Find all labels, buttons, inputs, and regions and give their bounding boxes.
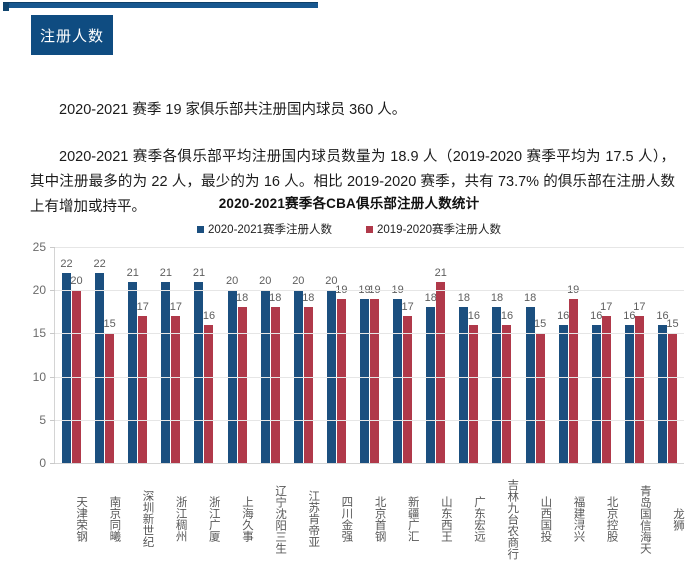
- bar-2019-2020[interactable]: 16: [469, 325, 478, 463]
- bar-2019-2020[interactable]: 18: [271, 307, 280, 463]
- bar-group: 1617: [585, 247, 618, 463]
- x-axis-category-label: 辽宁沈阳三生: [253, 469, 286, 569]
- x-axis-category-label: 江苏肯帝亚: [286, 469, 319, 569]
- bar-2019-2020[interactable]: 19: [337, 299, 346, 463]
- bar-value-label: 18: [491, 292, 503, 304]
- bar-value-label: 22: [60, 258, 72, 270]
- chart-x-axis: 天津荣钢南京同曦深圳新世纪浙江稠州浙江广厦上海久事辽宁沈阳三生江苏肯帝亚四川金强…: [54, 469, 684, 569]
- y-axis-tick-label: 5: [39, 413, 46, 427]
- x-axis-category-label: 上海久事: [220, 469, 253, 569]
- bar-value-label: 16: [203, 310, 215, 322]
- bar-group: 2220: [55, 247, 88, 463]
- chart-plot-wrapper: 0510152025 22202215211721172116201820182…: [0, 247, 698, 479]
- x-axis-category-label: 吉林九台农商行: [485, 469, 518, 569]
- x-axis-category-label: 青岛国信海天: [618, 469, 651, 569]
- bar-2020-2021[interactable]: 16: [625, 325, 634, 463]
- bar-2019-2020[interactable]: 21: [436, 282, 445, 463]
- page-root: 注册人数 2020-2021 赛季 19 家俱乐部共注册国内球员 360 人。 …: [0, 0, 698, 566]
- bar-value-label: 18: [458, 292, 470, 304]
- chart-gridline: [55, 290, 684, 291]
- bar-2019-2020[interactable]: 17: [403, 316, 412, 463]
- bar-group: 2117: [121, 247, 154, 463]
- bar-2019-2020[interactable]: 15: [668, 333, 677, 463]
- chart-gridline: [55, 333, 684, 334]
- bar-group: 1816: [452, 247, 485, 463]
- section-tag-registration-count: 注册人数: [31, 15, 113, 55]
- bar-2020-2021[interactable]: 18: [526, 307, 535, 463]
- bar-2019-2020[interactable]: 19: [569, 299, 578, 463]
- bar-group: 2215: [88, 247, 121, 463]
- bar-value-label: 21: [127, 267, 139, 279]
- chart-gridline: [55, 377, 684, 378]
- x-axis-category-label: 南京同曦: [87, 469, 120, 569]
- bar-value-label: 17: [137, 301, 149, 313]
- bar-2019-2020[interactable]: 18: [304, 307, 313, 463]
- bar-2020-2021[interactable]: 18: [492, 307, 501, 463]
- bar-value-label: 20: [292, 275, 304, 287]
- bar-group: 1917: [386, 247, 419, 463]
- chart-gridline: [55, 247, 684, 248]
- bar-2019-2020[interactable]: 19: [370, 299, 379, 463]
- bar-2019-2020[interactable]: 15: [105, 333, 114, 463]
- bar-value-label: 18: [425, 292, 437, 304]
- bar-value-label: 15: [104, 318, 116, 330]
- chart-y-axis: 0510152025: [0, 247, 54, 463]
- bar-2020-2021[interactable]: 22: [62, 273, 71, 463]
- x-axis-category-label: 广东宏远: [452, 469, 485, 569]
- bar-group: 2117: [154, 247, 187, 463]
- legend-label-2019-2020: 2019-2020赛季注册人数: [377, 221, 501, 237]
- bar-value-label: 20: [226, 275, 238, 287]
- bar-value-label: 21: [435, 267, 447, 279]
- bar-group: 1816: [485, 247, 518, 463]
- bar-value-label: 17: [402, 301, 414, 313]
- bar-value-label: 18: [524, 292, 536, 304]
- bar-group: 1619: [552, 247, 585, 463]
- y-axis-tick-label: 25: [33, 240, 46, 254]
- bar-2019-2020[interactable]: 16: [502, 325, 511, 463]
- chart-bar-groups: 2220221521172117211620182018201820191919…: [55, 247, 684, 463]
- top-divider-rule: [3, 2, 318, 8]
- bar-2020-2021[interactable]: 19: [393, 299, 402, 463]
- bar-group: 2018: [287, 247, 320, 463]
- y-axis-tick-label: 10: [33, 370, 46, 384]
- paragraph-total-registrations: 2020-2021 赛季 19 家俱乐部共注册国内球员 360 人。: [30, 98, 675, 123]
- bar-group: 2018: [254, 247, 287, 463]
- x-axis-category-label: 天津荣钢: [54, 469, 87, 569]
- legend-swatch-icon-2020-2021: [197, 226, 204, 233]
- bar-value-label: 17: [600, 301, 612, 313]
- bar-value-label: 21: [193, 267, 205, 279]
- bar-group: 1617: [618, 247, 651, 463]
- bar-value-label: 20: [259, 275, 271, 287]
- bar-value-label: 21: [160, 267, 172, 279]
- bar-2019-2020[interactable]: 17: [138, 316, 147, 463]
- bar-2019-2020[interactable]: 18: [238, 307, 247, 463]
- bar-value-label: 16: [468, 310, 480, 322]
- bar-value-label: 16: [557, 310, 569, 322]
- y-axis-tick-label: 15: [33, 326, 46, 340]
- bar-value-label: 18: [236, 292, 248, 304]
- bar-group: 1821: [419, 247, 452, 463]
- bar-value-label: 18: [269, 292, 281, 304]
- y-axis-tick-label: 20: [33, 283, 46, 297]
- legend-item-2020-2021: 2020-2021赛季注册人数: [197, 221, 332, 237]
- bar-2020-2021[interactable]: 18: [426, 307, 435, 463]
- bar-value-label: 15: [666, 318, 678, 330]
- chart-plot-area: 2220221521172117211620182018201820191919…: [54, 247, 684, 463]
- bar-value-label: 15: [534, 318, 546, 330]
- legend-item-2019-2020: 2019-2020赛季注册人数: [366, 221, 501, 237]
- chart-legend: 2020-2021赛季注册人数 2019-2020赛季注册人数: [0, 221, 698, 237]
- bar-group: 2018: [221, 247, 254, 463]
- legend-label-2020-2021: 2020-2021赛季注册人数: [208, 221, 332, 237]
- y-axis-tick-mark: [50, 420, 55, 421]
- bar-value-label: 20: [70, 275, 82, 287]
- y-axis-tick-label: 0: [39, 456, 46, 470]
- bar-group: 2019: [320, 247, 353, 463]
- x-axis-category-label: 北京控股: [585, 469, 618, 569]
- bar-value-label: 16: [501, 310, 513, 322]
- bar-value-label: 17: [170, 301, 182, 313]
- bar-2020-2021[interactable]: 16: [658, 325, 667, 463]
- bar-2020-2021[interactable]: 22: [95, 273, 104, 463]
- legend-swatch-icon-2019-2020: [366, 226, 373, 233]
- bar-group: 1815: [519, 247, 552, 463]
- registration-bar-chart: 2020-2021赛季各CBA俱乐部注册人数统计 2020-2021赛季注册人数…: [0, 188, 698, 566]
- bar-2020-2021[interactable]: 21: [194, 282, 203, 463]
- x-axis-category-label: 龙狮: [651, 469, 684, 569]
- x-axis-category-label: 山东西王: [419, 469, 452, 569]
- x-axis-category-label: 深圳新世纪: [120, 469, 153, 569]
- bar-2020-2021[interactable]: 16: [592, 325, 601, 463]
- y-axis-tick-mark: [50, 247, 55, 248]
- bar-2019-2020[interactable]: 17: [602, 316, 611, 463]
- chart-gridline: [55, 463, 684, 464]
- x-axis-category-label: 浙江稠州: [153, 469, 186, 569]
- x-axis-category-label: 福建浔兴: [551, 469, 584, 569]
- x-axis-category-label: 四川金强: [319, 469, 352, 569]
- bar-group: 1615: [651, 247, 684, 463]
- bar-2020-2021[interactable]: 18: [459, 307, 468, 463]
- x-axis-category-label: 新疆广汇: [386, 469, 419, 569]
- y-axis-tick-mark: [50, 377, 55, 378]
- bar-2019-2020[interactable]: 17: [635, 316, 644, 463]
- bar-2019-2020[interactable]: 15: [536, 333, 545, 463]
- bar-value-label: 18: [302, 292, 314, 304]
- x-axis-category-label: 山西国投: [518, 469, 551, 569]
- chart-title: 2020-2021赛季各CBA俱乐部注册人数统计: [0, 188, 698, 212]
- bar-2020-2021[interactable]: 16: [559, 325, 568, 463]
- bar-group: 1919: [353, 247, 386, 463]
- bar-value-label: 17: [633, 301, 645, 313]
- x-axis-category-label: 北京首钢: [352, 469, 385, 569]
- y-axis-tick-mark: [50, 290, 55, 291]
- top-divider-cap: [3, 3, 9, 11]
- chart-gridline: [55, 420, 684, 421]
- y-axis-tick-mark: [50, 333, 55, 334]
- bar-2020-2021[interactable]: 19: [360, 299, 369, 463]
- bar-2019-2020[interactable]: 17: [171, 316, 180, 463]
- x-axis-category-label: 浙江广厦: [187, 469, 220, 569]
- bar-group: 2116: [187, 247, 220, 463]
- y-axis-tick-mark: [50, 463, 55, 464]
- bar-value-label: 22: [94, 258, 106, 270]
- bar-2019-2020[interactable]: 16: [204, 325, 213, 463]
